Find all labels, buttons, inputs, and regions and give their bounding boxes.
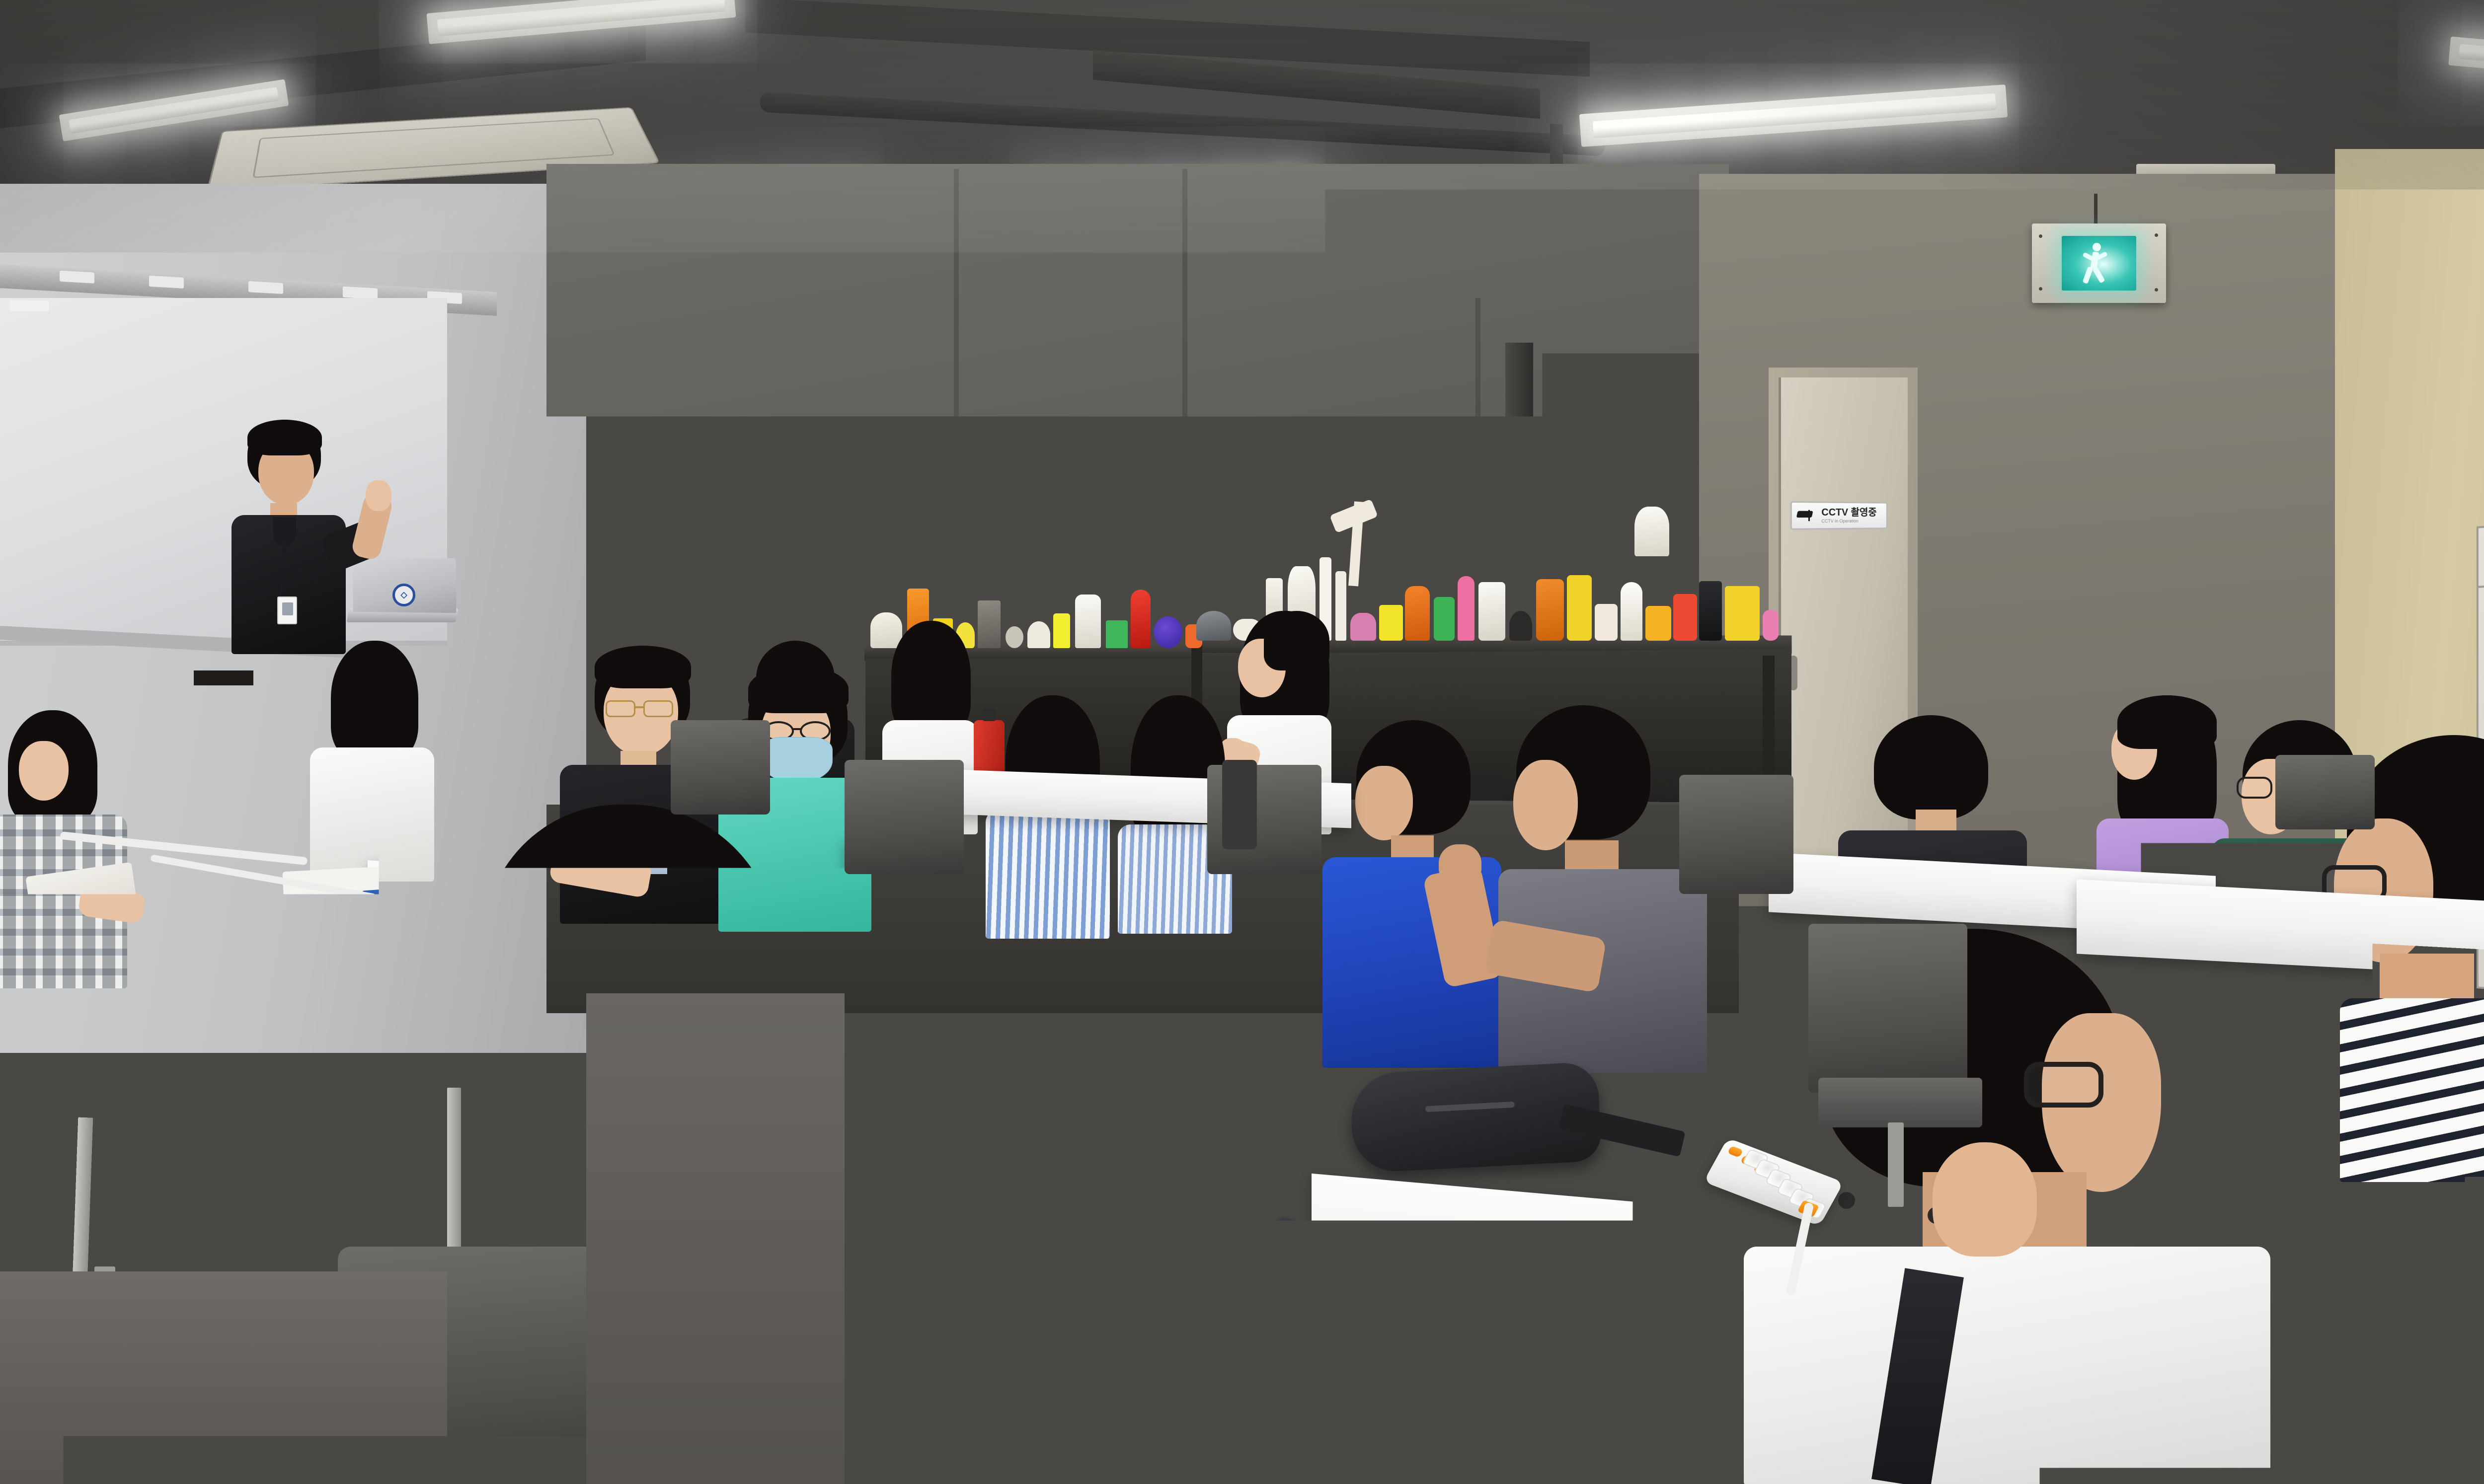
glasses-lens <box>2237 777 2272 799</box>
classroom-photo: 3D프린터 개요 K·ICT 3D프린터 개요 3차원 데이터 기반으로 입체 … <box>0 0 2484 1484</box>
printed-object <box>1434 597 1455 641</box>
whiteboard-clip <box>60 271 94 284</box>
whiteboard-clip <box>343 287 378 299</box>
printed-object <box>1567 575 1592 641</box>
hair-top <box>1264 611 1329 670</box>
exit-sign-mount-rod <box>2094 194 2097 224</box>
document-icon: 📄 <box>608 610 658 642</box>
printed-object <box>1478 582 1505 641</box>
printed-object <box>1725 586 1760 641</box>
cctv-sign-english: CCTV in Operation <box>1821 519 1876 523</box>
chair-backrest[interactable] <box>1808 924 1967 1093</box>
hand-pointing <box>366 480 391 511</box>
face <box>19 741 69 801</box>
slide-body-line1: 3차원 데이터 기반으로 입체 형태로 출력하주는 프린터로, <box>470 464 714 479</box>
printed-object <box>1405 586 1430 641</box>
hair <box>891 621 971 735</box>
printed-object <box>1075 594 1101 648</box>
desk-label <box>1798 1340 1826 1355</box>
process-step-slicing: 📄 슬라이싱 <box>608 610 658 651</box>
floor <box>586 993 845 1484</box>
tablet-case[interactable] <box>25 862 141 946</box>
glasses-bridge <box>793 728 801 730</box>
printed-object-sculpture <box>1634 507 1669 556</box>
value-item: 1.빠른,좋은 설계 <box>681 514 860 528</box>
chair-frame <box>1222 760 1257 849</box>
printed-object <box>1595 604 1618 641</box>
value-list: 1.빠른,좋은 설계 2.제작시간 및 비용의 절감 3.환경 친화적 제조 4… <box>681 514 860 602</box>
slide-section2-heading: 3D프린터 과정 <box>467 591 551 611</box>
hair <box>331 641 418 760</box>
glasses-left-lens <box>606 700 635 717</box>
glasses-right-lens <box>643 700 673 717</box>
chair-backrest[interactable] <box>686 894 785 1003</box>
printed-object <box>1027 621 1050 648</box>
printer-icon: 🖨 <box>680 611 731 644</box>
shirt-collar <box>939 1247 1128 1306</box>
emergency-exit-sign <box>2032 223 2166 303</box>
phone-icon <box>463 406 479 435</box>
value-item: 6.제조,유통의 변화 <box>681 586 860 602</box>
printer-logo-text: Printer <box>531 571 575 591</box>
slide-header: 3D프린터 개요 K·ICT <box>456 392 892 441</box>
printed-object <box>1458 576 1475 641</box>
desk-label <box>1788 1318 1816 1333</box>
arrow-icon: ⇨ <box>733 616 751 640</box>
cctv-sign: CCTV 촬영중 CCTV in Operation <box>1790 501 1888 530</box>
running-person-icon <box>2080 243 2116 284</box>
value-box-heading: 3D프린터 가치 <box>677 490 856 506</box>
slide-section1-heading: 3D프린터 개요 <box>467 445 551 466</box>
chair-backrest[interactable] <box>845 760 964 874</box>
hair-fringe <box>2117 695 2217 749</box>
cctv-sign-korean: CCTV 촬영중 <box>1821 508 1876 518</box>
slide-section1-body: 3차원 데이터 기반으로 입체 형태로 출력하주는 프린터로, 특정소재를 층층… <box>470 464 714 492</box>
arrow-icon: ⇨ <box>660 615 678 639</box>
3d-printer-illustration: 3D Printer <box>471 492 666 584</box>
face-mask <box>761 737 833 783</box>
glasses-bridge <box>635 706 645 708</box>
value-item: 4.복잡한 구조의 제품 생산 <box>681 557 860 573</box>
hand-at-chin <box>1439 844 1481 887</box>
printed-object <box>1509 611 1532 641</box>
slide-title: 3D프린터 개요 <box>486 402 622 436</box>
printed-object <box>1536 579 1564 641</box>
student-white-tee-left <box>303 641 447 879</box>
printed-object <box>1645 606 1671 641</box>
printed-object <box>1699 581 1722 641</box>
printed-object <box>1053 613 1070 648</box>
hair <box>1874 715 1988 819</box>
value-item: 2.제작시간 및 비용의 절감 <box>681 528 860 543</box>
logo-text: K·ICT <box>819 406 860 423</box>
chair-backrest[interactable] <box>2275 755 2375 829</box>
printed-object <box>1763 610 1779 641</box>
printed-object <box>1006 626 1023 648</box>
presenter <box>219 420 383 653</box>
value-item: 5.개인 맞춤형 디자인 생산 <box>681 572 860 588</box>
printed-object <box>1131 590 1151 648</box>
whiteboard-clip <box>248 281 283 294</box>
chair-backrest[interactable] <box>1679 775 1793 894</box>
printed-object <box>1106 620 1128 648</box>
face <box>1513 760 1578 850</box>
chair-caster <box>1838 1192 1855 1209</box>
face <box>1355 766 1413 840</box>
printed-object <box>1154 616 1182 648</box>
chair-post <box>1888 1122 1904 1207</box>
printed-object <box>1621 582 1642 641</box>
slide-body: 3D프린터 개요 3차원 데이터 기반으로 입체 형태로 출력하주는 프린터로,… <box>456 435 892 659</box>
printed-object <box>1673 594 1697 641</box>
hexagon-icon <box>795 404 815 426</box>
hair-fringe <box>247 420 322 455</box>
arrow-icon: ⇨ <box>588 614 606 638</box>
hair-fringe <box>595 646 691 688</box>
laptop-brand-logo: ◇ <box>392 584 415 606</box>
alarm-panel <box>2479 515 2484 588</box>
slide-body-line2: 특정소재를 층층이 쌓아 올리는 적층 가공 방식 <box>470 477 714 492</box>
whiteboard-clip <box>149 276 184 289</box>
whiteboard-hook <box>10 300 49 311</box>
tv-screen: 3D프린터 개요 K·ICT 3D프린터 개요 3차원 데이터 기반으로 입체 … <box>456 392 892 658</box>
hand <box>1933 1142 2037 1257</box>
striped-shirt <box>2340 998 2484 1182</box>
exit-pictogram-panel <box>2062 236 2136 291</box>
wrench-icon: 🔧 <box>754 612 806 645</box>
floor <box>0 1271 447 1484</box>
presentation-slide: 3D프린터 개요 K·ICT 3D프린터 개요 3차원 데이터 기반으로 입체 … <box>456 392 892 658</box>
id-badge <box>277 596 297 624</box>
glasses-lens <box>2024 1062 2103 1108</box>
chair-backrest[interactable] <box>671 720 770 815</box>
chair-seat[interactable] <box>1818 1078 1982 1127</box>
printed-object <box>1379 605 1403 641</box>
vent-pipe <box>1505 343 1533 531</box>
chair-seat[interactable] <box>10 1212 219 1271</box>
cctv-camera-icon <box>1797 510 1817 521</box>
value-item: 3.환경 친화적 제조 <box>681 543 860 558</box>
kict-logo: K·ICT <box>765 392 892 437</box>
hair-fringe <box>748 666 849 713</box>
